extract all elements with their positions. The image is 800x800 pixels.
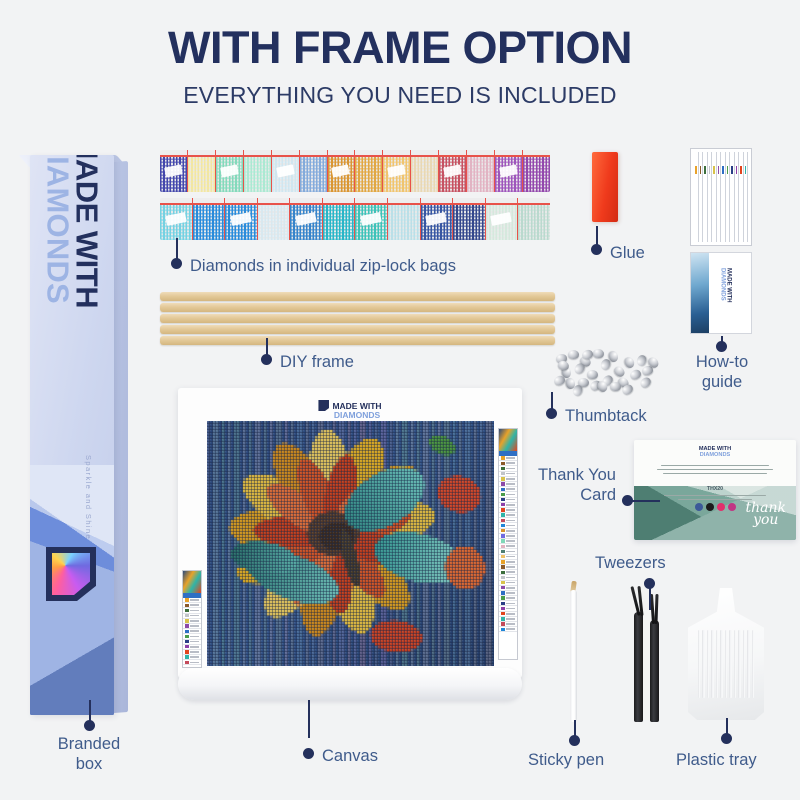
diamond-painting-canvas: MADE WITH DIAMONDS (178, 388, 522, 678)
branded-box-product: MADE WITH DIAMONDS Sparkle and Shine (30, 155, 128, 715)
instagram-icon (728, 503, 736, 511)
label-thumbtack: Thumbtack (565, 406, 647, 426)
canvas-brand-logo: MADE WITH DIAMONDS (178, 400, 522, 420)
marker-sticky-pen (569, 735, 580, 746)
ziplock-bag (290, 198, 323, 240)
guide-branded-card: MADE WITH DIAMONDS (690, 252, 752, 334)
label-branded-box: Branded box (40, 734, 138, 774)
tray-grooves (698, 630, 754, 698)
ziplock-bag (355, 150, 383, 192)
diamond-gem-icon (318, 400, 329, 411)
ziplock-bag (188, 150, 216, 192)
brand-line-2: DIAMONDS (43, 155, 72, 454)
tiktok-icon (706, 503, 714, 511)
box-brand-name: MADE WITH DIAMONDS (43, 155, 100, 454)
tray-groove (720, 630, 722, 698)
legend-row (499, 627, 517, 632)
tray-groove (702, 630, 704, 698)
page-title: WITH FRAME OPTION (0, 22, 800, 74)
ziplock-bag (216, 150, 244, 192)
ziplock-bag (300, 150, 328, 192)
label-thank-you-card: Thank You Card (510, 465, 616, 505)
thumbtack (587, 370, 598, 380)
marker-thumbtack (546, 408, 557, 419)
guide-photo (691, 253, 709, 333)
infographic-canvas: WITH FRAME OPTION EVERYTHING YOU NEED IS… (0, 0, 800, 800)
tray-groove (725, 630, 727, 698)
frame-stick (160, 303, 555, 312)
leader-tweezers (649, 588, 651, 610)
card-thank-you-script: thank you (746, 503, 787, 527)
sticky-pen-tool (570, 590, 577, 722)
label-canvas: Canvas (322, 746, 378, 766)
ziplock-bag (225, 198, 258, 240)
leader-diamonds-bags (176, 238, 178, 260)
leader-glue (596, 226, 598, 246)
ziplock-bag-row-top (160, 150, 550, 192)
diamond-gem-icon (46, 547, 96, 601)
ziplock-bag (523, 150, 550, 192)
canvas-artwork (207, 421, 494, 666)
tray-groove (747, 630, 749, 698)
pinterest-icon (717, 503, 725, 511)
tweezers-straight (650, 620, 659, 722)
ziplock-bag (421, 198, 454, 240)
frame-stick (160, 292, 555, 301)
ziplock-bag (518, 198, 550, 240)
leader-sticky-pen (574, 720, 576, 736)
frame-stick (160, 336, 555, 345)
ziplock-bag (328, 150, 356, 192)
marker-thank-you-card (622, 495, 633, 506)
ziplock-bag (160, 150, 188, 192)
label-plastic-tray: Plastic tray (676, 750, 757, 770)
diy-frame-sticks (160, 292, 555, 347)
guide-brand-logo: MADE WITH DIAMONDS (719, 268, 732, 303)
label-diy-frame: DIY frame (280, 352, 354, 372)
tray-groove (716, 630, 718, 698)
marker-glue (591, 244, 602, 255)
canvas-rolled-edge (178, 668, 522, 700)
tray-groove (729, 630, 731, 698)
ziplock-bag (467, 150, 495, 192)
card-brand-logo: MADE WITH DIAMONDS (634, 447, 796, 458)
ziplock-bag (439, 150, 467, 192)
leader-canvas (308, 700, 310, 738)
ziplock-bag (388, 198, 421, 240)
thumbtack-pile (552, 348, 662, 394)
tray-groove (698, 630, 700, 698)
ziplock-bag (272, 150, 300, 192)
label-glue: Glue (610, 243, 645, 263)
ziplock-bag (323, 198, 356, 240)
canvas-color-legend-left (182, 570, 202, 668)
frame-stick (160, 325, 555, 334)
box-tagline: Sparkle and Shine (84, 455, 93, 540)
thumbtack (593, 348, 605, 358)
glue-bottle (592, 152, 618, 222)
marker-branded-box (84, 720, 95, 731)
ziplock-bag (383, 150, 411, 192)
tray-groove (743, 630, 745, 698)
card-message-text (656, 462, 774, 477)
ziplock-bag (453, 198, 486, 240)
marker-diamonds-bags (171, 258, 182, 269)
leader-thank-you-card (632, 500, 660, 502)
thumbtack (610, 382, 621, 391)
ziplock-bag (355, 198, 388, 240)
thumbtack (568, 350, 579, 359)
label-tweezers: Tweezers (595, 553, 666, 573)
brand-line-1: MADE WITH (72, 155, 101, 454)
thumbtack (612, 364, 626, 378)
tray-groove (734, 630, 736, 698)
guide-color-chart (690, 148, 752, 246)
how-to-guide-booklet: MADE WITH DIAMONDS (690, 148, 752, 334)
thumbtack (638, 375, 652, 389)
box-front-face: MADE WITH DIAMONDS (30, 155, 114, 715)
tweezers-curved (634, 612, 643, 722)
marker-plastic-tray (721, 733, 732, 744)
ziplock-bag-row-bottom (160, 198, 550, 240)
ziplock-bag (258, 198, 291, 240)
tray-groove (711, 630, 713, 698)
plastic-tray-tool (688, 588, 764, 720)
ziplock-bag (244, 150, 272, 192)
page-subtitle: EVERYTHING YOU NEED IS INCLUDED (0, 82, 800, 109)
thumbtack (629, 368, 643, 381)
leader-plastic-tray (726, 718, 728, 734)
ziplock-bag (495, 150, 523, 192)
box-side-face (114, 161, 128, 713)
tray-groove (707, 630, 709, 698)
ziplock-bag (160, 198, 193, 240)
thank-you-card: MADE WITH DIAMONDS THX20 thank you (634, 440, 796, 540)
tray-groove (738, 630, 740, 698)
frame-stick (160, 314, 555, 323)
ziplock-bag (486, 198, 519, 240)
marker-how-to-guide (716, 341, 727, 352)
guide-chart-column (744, 152, 749, 242)
marker-canvas (303, 748, 314, 759)
label-how-to-guide: How-to guide (676, 352, 768, 392)
marker-diy-frame (261, 354, 272, 365)
label-diamonds-bags: Diamonds in individual zip-lock bags (190, 256, 456, 276)
facebook-icon (695, 503, 703, 511)
leader-branded-box (89, 700, 91, 722)
label-sticky-pen: Sticky pen (528, 750, 604, 770)
ziplock-bag (193, 198, 226, 240)
canvas-color-legend-right (498, 428, 518, 660)
tray-groove (752, 630, 754, 698)
thumbtack (623, 356, 636, 370)
legend-row (183, 660, 201, 665)
ziplock-bag (411, 150, 439, 192)
